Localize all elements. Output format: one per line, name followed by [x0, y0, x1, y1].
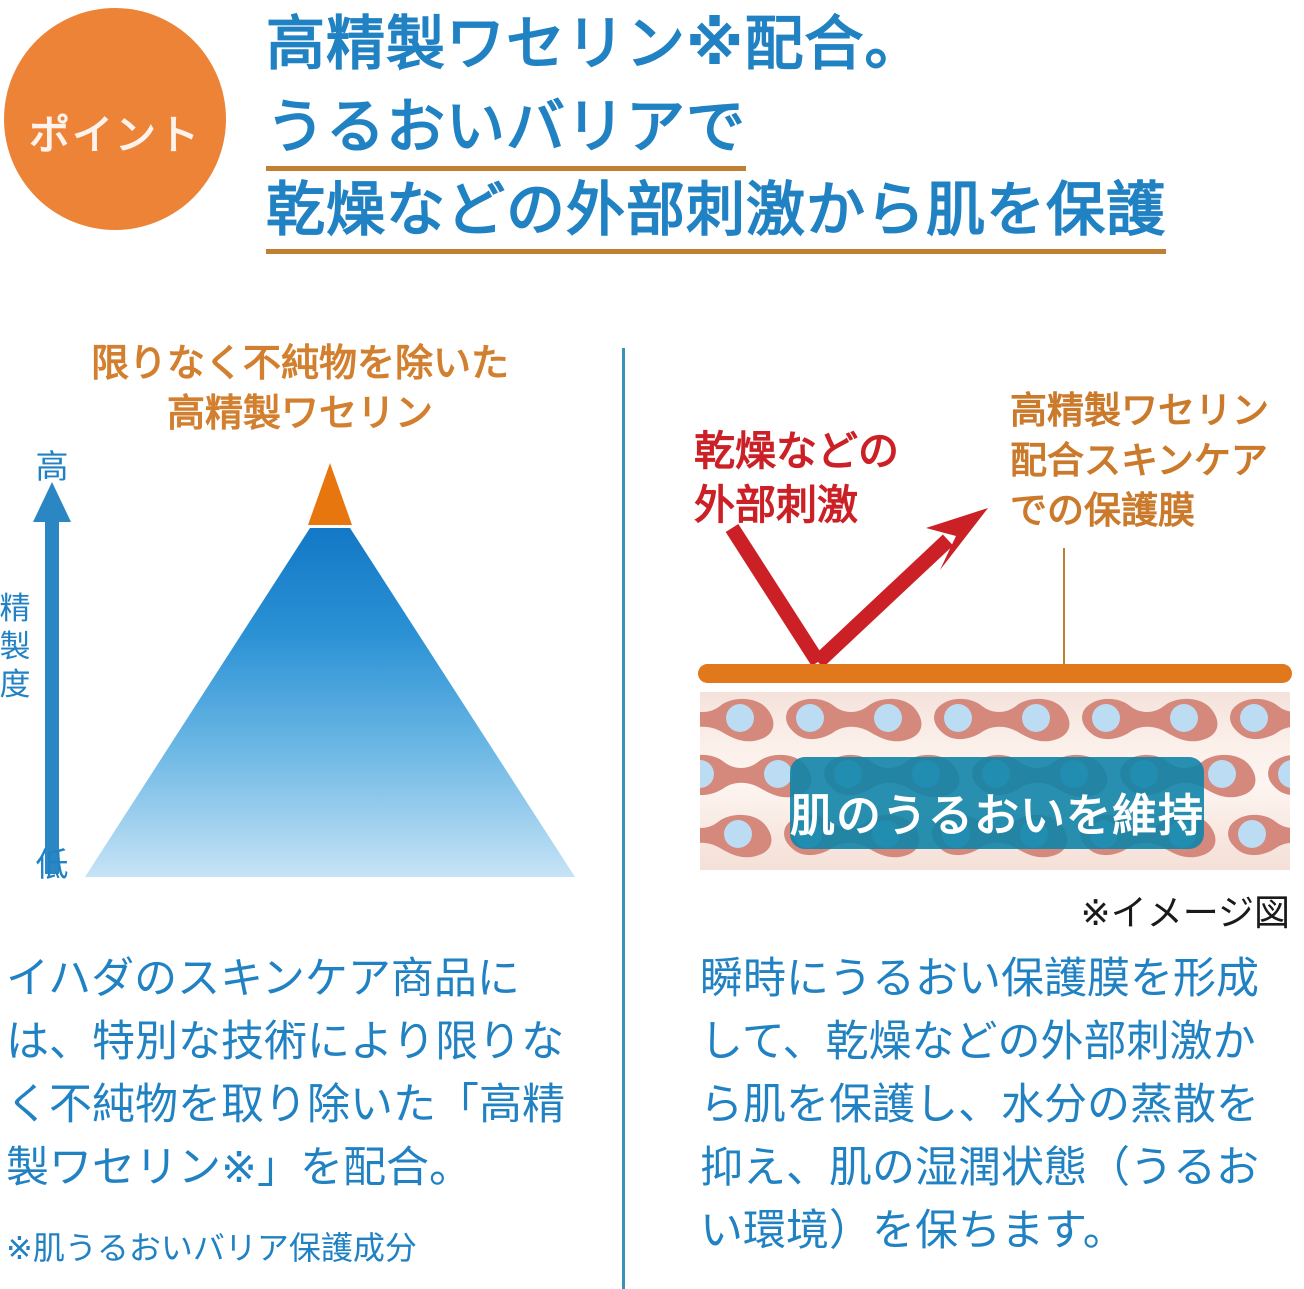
column-divider — [622, 348, 625, 1289]
image-disclaimer-note: ※イメージ図 — [700, 884, 1290, 936]
axis-name-label: 精 製 度 — [0, 590, 32, 704]
headline-line-1: 高精製ワセリン※配合。 — [266, 2, 1296, 85]
axis-name-char-3: 度 — [0, 666, 32, 704]
protective-film-line-1: 高精製ワセリン — [1010, 386, 1269, 436]
right-panel-body: 瞬時にうるおい保護膜を形成して、乾燥などの外部刺激から肌を保護し、水分の蒸散を抑… — [700, 948, 1294, 1263]
point-badge-label: ポイント — [4, 101, 226, 161]
moisture-retention-badge: 肌のうるおいを維持 — [790, 757, 1204, 849]
protective-film-line-3: での保護膜 — [1010, 486, 1269, 536]
headline-line-2: うるおいバリアで — [266, 85, 746, 168]
headline-line-3: 乾燥などの外部刺激から肌を保護 — [266, 168, 1166, 251]
infographic-root: ポイント 高精製ワセリン※配合。 うるおいバリアで 乾燥などの外部刺激から肌を保… — [0, 0, 1304, 1289]
bouncing-stimulus-arrow-icon — [690, 500, 1020, 685]
pyramid-tip — [308, 463, 352, 525]
axis-name-char-2: 製 — [0, 628, 32, 666]
protective-film-line-2: 配合スキンケア — [1010, 436, 1269, 486]
left-panel-title-line-2: 高精製ワセリン — [0, 388, 600, 438]
left-panel-footnote: ※肌うるおいバリア保護成分 — [6, 1228, 596, 1268]
protective-film-label: 高精製ワセリン 配合スキンケア での保護膜 — [1010, 386, 1269, 536]
protective-film-leader-line — [1063, 548, 1065, 668]
pyramid-body — [85, 528, 575, 877]
point-badge: ポイント — [4, 8, 226, 230]
left-panel-title-line-1: 限りなく不純物を除いた — [0, 338, 600, 388]
purity-pyramid-chart — [60, 455, 600, 885]
axis-name-char-1: 精 — [0, 590, 32, 628]
headline-line-3-wrap: 乾燥などの外部刺激から肌を保護 — [266, 168, 1296, 251]
headline-line-2-wrap: うるおいバリアで — [266, 85, 1296, 168]
left-panel-body: イハダのスキンケア商品には、特別な技術により限りなく不純物を取り除いた「高精製ワ… — [6, 948, 596, 1200]
external-stimulus-line-1: 乾燥などの — [694, 424, 899, 478]
headline: 高精製ワセリン※配合。 うるおいバリアで 乾燥などの外部刺激から肌を保護 — [266, 2, 1296, 251]
moisture-retention-label: 肌のうるおいを維持 — [790, 779, 1204, 844]
protective-barrier-bar — [698, 664, 1292, 683]
left-panel-title: 限りなく不純物を除いた 高精製ワセリン — [0, 338, 600, 438]
skin-cell-row-1 — [700, 699, 1290, 741]
